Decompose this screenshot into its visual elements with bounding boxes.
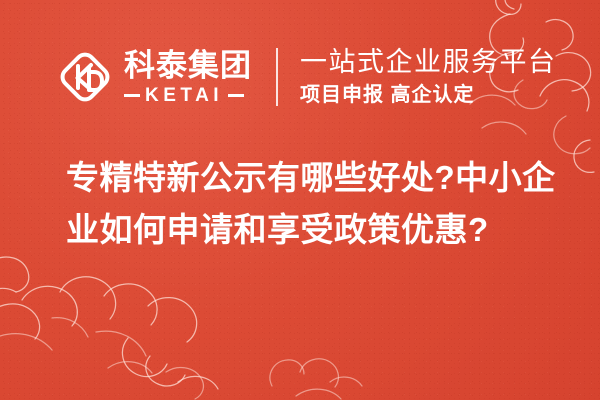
brand-name-en: KETAI [145, 86, 223, 105]
header-tagline: 一站式企业服务平台 [300, 47, 557, 79]
brand-name-cn: 科泰集团 [124, 50, 252, 82]
brand-logo[interactable]: 科泰集团 KETAI [58, 49, 252, 104]
header-services: 项目申报 高企认定 [300, 83, 557, 107]
cloud-bottom-left-icon [0, 257, 218, 399]
promo-banner: 科泰集团 KETAI 一站式企业服务平台 项目申报 高企认定 专精特新公示有哪些… [0, 0, 600, 400]
headline-line-2: 业如何申请和享受政策优惠? [66, 204, 554, 256]
brand-name-en-row: KETAI [124, 86, 252, 105]
banner-header: 科泰集团 KETAI 一站式企业服务平台 项目申报 高企认定 [0, 34, 600, 120]
dash-left-icon [124, 94, 140, 97]
headline-line-1: 专精特新公示有哪些好处?中小企 [66, 152, 554, 204]
header-copy: 一站式企业服务平台 项目申报 高企认定 [300, 47, 557, 108]
page-title: 专精特新公示有哪些好处?中小企 业如何申请和享受政策优惠? [66, 152, 554, 256]
brand-wordmark: 科泰集团 KETAI [124, 50, 252, 104]
ketai-diamond-monogram-icon [58, 50, 112, 104]
dash-right-icon [228, 94, 244, 97]
cloud-center-wisp-icon [270, 359, 362, 399]
header-divider [276, 48, 278, 106]
